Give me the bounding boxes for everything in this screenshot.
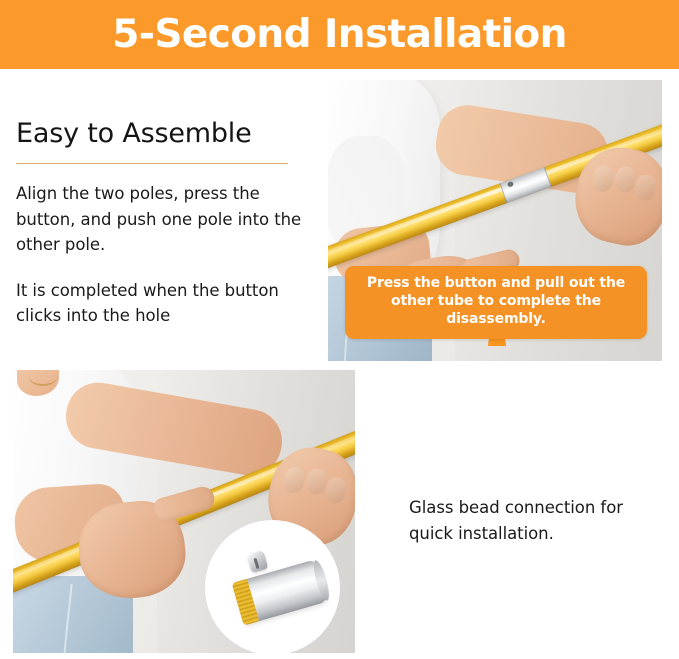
necklace (29, 370, 57, 386)
knuckle (281, 465, 307, 495)
heading-divider (16, 163, 288, 164)
silver-tube (233, 559, 330, 626)
caption-callout: Press the button and pull out the other … (345, 266, 647, 339)
release-button (507, 181, 514, 188)
page-title: 5-Second Installation (112, 15, 567, 54)
disassembly-photo: Press the button and pull out the other … (328, 80, 662, 361)
section-heading: Easy to Assemble (16, 118, 302, 149)
tube-end (311, 559, 332, 602)
gold-ridged-collar (232, 579, 260, 626)
assembly-photo (13, 370, 355, 653)
instruction-paragraph-1: Align the two poles, press the button, a… (16, 181, 302, 258)
knuckle (591, 164, 616, 194)
knuckle (633, 173, 658, 203)
caption-text: Press the button and pull out the other … (353, 275, 639, 329)
easy-to-assemble-section: Easy to Assemble Align the two poles, pr… (16, 118, 302, 329)
instruction-paragraph-2: It is completed when the button clicks i… (16, 278, 302, 329)
connector-closeup-inset (205, 520, 340, 653)
header-banner: 5-Second Installation (0, 0, 679, 69)
glass-bead-description: Glass bead connection for quick installa… (409, 495, 657, 548)
